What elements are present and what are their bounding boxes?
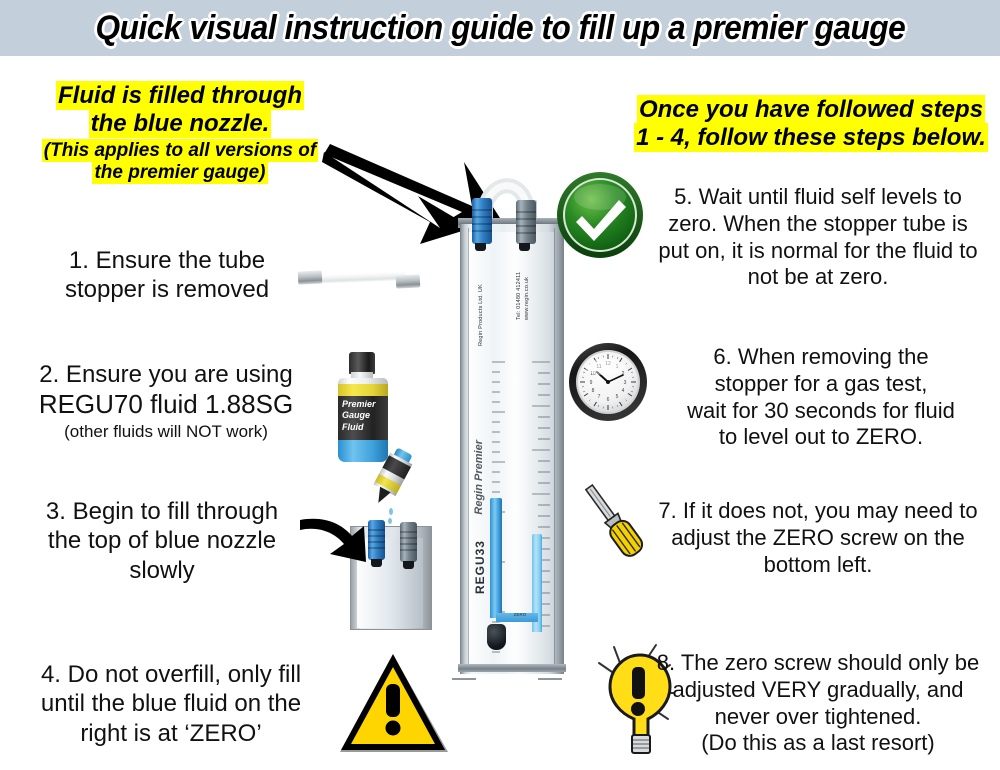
step-2-line-3: (other fluids will NOT work) xyxy=(16,421,316,443)
gauge-fluid-bottle-photo: Premier Gauge Fluid xyxy=(330,352,396,462)
step-3-line-2: the top of blue nozzle xyxy=(14,526,310,555)
gauge-phone-text: Tel: 01480 412411 xyxy=(516,260,524,320)
stopper-tube-body xyxy=(312,271,406,284)
step-6-line-3: wait for 30 seconds for fluid xyxy=(648,398,994,425)
svg-text:8: 8 xyxy=(592,388,595,394)
step-2-line-1: 2. Ensure you are using xyxy=(16,360,316,389)
arrow-to-blue-nozzle-icon xyxy=(300,516,380,564)
step-4-line-1: 4. Do not overfill, only fill xyxy=(6,660,336,689)
step-3-line-3: slowly xyxy=(14,556,310,585)
header-banner: Quick visual instruction guide to fill u… xyxy=(0,0,1000,56)
step-5-line-3: put on, it is normal for the fluid to xyxy=(640,238,996,265)
bottle-label: Premier Gauge Fluid xyxy=(338,396,388,440)
svg-text:7: 7 xyxy=(598,394,601,400)
bottle-brand-line-2: Gauge Fluid xyxy=(342,410,386,433)
step-8-text: 8. The zero screw should only be adjuste… xyxy=(640,650,996,757)
step-8-line-2: adjusted VERY gradually, and xyxy=(640,677,996,704)
gauge-fluid-column-left xyxy=(490,498,502,618)
svg-text:4: 4 xyxy=(622,388,625,394)
warning-triangle-icon xyxy=(336,650,452,760)
step-5-line-2: zero. When the stopper tube is xyxy=(640,211,996,238)
step-7-text: 7. If it does not, you may need to adjus… xyxy=(640,498,996,578)
premier-gauge-photo: Tel: 01480 412411 www.regin.co.uk Regin … xyxy=(446,140,568,680)
left-highlight-note: Fluid is filled through the blue nozzle.… xyxy=(30,82,330,184)
step-8-line-3: never over tightened. xyxy=(640,704,996,731)
step-6-line-1: 6. When removing the xyxy=(648,344,994,371)
step-3-text: 3. Begin to fill through the top of blue… xyxy=(14,497,310,585)
gauge-company-text: Regin Products Ltd. UK xyxy=(478,270,486,346)
stopper-connector-right xyxy=(396,274,421,288)
step-5-text: 5. Wait until fluid self levels to zero.… xyxy=(640,184,996,291)
gauge-blue-nozzle-cap xyxy=(475,243,486,251)
tube-stopper-photo xyxy=(296,266,422,292)
gauge-brand-label: Regin Premier xyxy=(473,440,485,515)
gauge-blue-nozzle[interactable] xyxy=(472,198,492,244)
step-7-line-3: bottom left. xyxy=(640,552,996,579)
stopper-connector-left xyxy=(298,270,323,284)
svg-text:5: 5 xyxy=(616,394,619,400)
gauge-website-text: www.regin.co.uk xyxy=(524,260,532,320)
step-2-text: 2. Ensure you are using REGU70 fluid 1.8… xyxy=(16,360,316,443)
green-check-icon xyxy=(556,171,644,259)
gauge-zero-marker-label: ZERO xyxy=(508,612,532,618)
mini-grey-nozzle-cap xyxy=(403,561,414,569)
step-6-line-4: to level out to ZERO. xyxy=(648,424,994,451)
step-5-line-1: 5. Wait until fluid self levels to xyxy=(640,184,996,211)
svg-text:3: 3 xyxy=(624,380,627,386)
step-1-text: 1. Ensure the tube stopper is removed xyxy=(22,246,312,305)
step-6-line-2: stopper for a gas test, xyxy=(648,371,994,398)
svg-text:9: 9 xyxy=(590,380,593,386)
gauge-foot-left xyxy=(452,671,476,680)
left-note-line-3: (This applies to all versions of xyxy=(43,140,317,161)
step-1-line-2: stopper is removed xyxy=(22,275,312,304)
step-3-line-1: 3. Begin to fill through xyxy=(14,497,310,526)
step-6-text: 6. When removing the stopper for a gas t… xyxy=(648,344,994,451)
left-note-line-4: the premier gauge) xyxy=(93,162,266,183)
tilted-fluid-bottle xyxy=(366,445,417,509)
step-4-line-3: right is at ‘ZERO’ xyxy=(6,719,336,748)
step-4-line-2: until the blue fluid on the xyxy=(6,689,336,718)
step-7-line-2: adjust the ZERO screw on the xyxy=(640,525,996,552)
gauge-foot-right xyxy=(538,671,562,680)
step-1-line-1: 1. Ensure the tube xyxy=(22,246,312,275)
mini-grey-nozzle xyxy=(400,522,417,562)
step-7-line-1: 7. If it does not, you may need to xyxy=(640,498,996,525)
step-2-line-2: REGU70 fluid 1.88SG xyxy=(16,389,316,421)
bottle-yellow-band xyxy=(338,384,388,396)
bottle-brand-line-1: Premier xyxy=(342,399,386,410)
gauge-grey-nozzle-cap xyxy=(519,243,530,251)
right-highlight-note: Once you have followed steps 1 - 4, foll… xyxy=(628,96,994,153)
step-8-line-4: (Do this as a last resort) xyxy=(640,730,996,757)
left-note-line-2: the blue nozzle. xyxy=(90,110,271,137)
svg-text:6: 6 xyxy=(607,397,610,403)
right-note-line-1: Once you have followed steps xyxy=(638,96,984,123)
left-note-line-1: Fluid is filled through xyxy=(57,82,303,109)
step-8-line-1: 8. The zero screw should only be xyxy=(640,650,996,677)
right-note-line-2: 1 - 4, follow these steps below. xyxy=(635,124,987,151)
gauge-grey-nozzle[interactable] xyxy=(516,200,536,244)
zero-adjustment-screw[interactable] xyxy=(487,624,506,650)
step-4-text: 4. Do not overfill, only fill until the … xyxy=(6,660,336,748)
gauge-model-label: REGU33 xyxy=(473,540,487,594)
step-5-line-4: not be at zero. xyxy=(640,264,996,291)
bottle-cap xyxy=(349,352,375,374)
clock-icon: 1212 345 678 91011 xyxy=(567,341,649,423)
page-title: Quick visual instruction guide to fill u… xyxy=(95,9,905,48)
